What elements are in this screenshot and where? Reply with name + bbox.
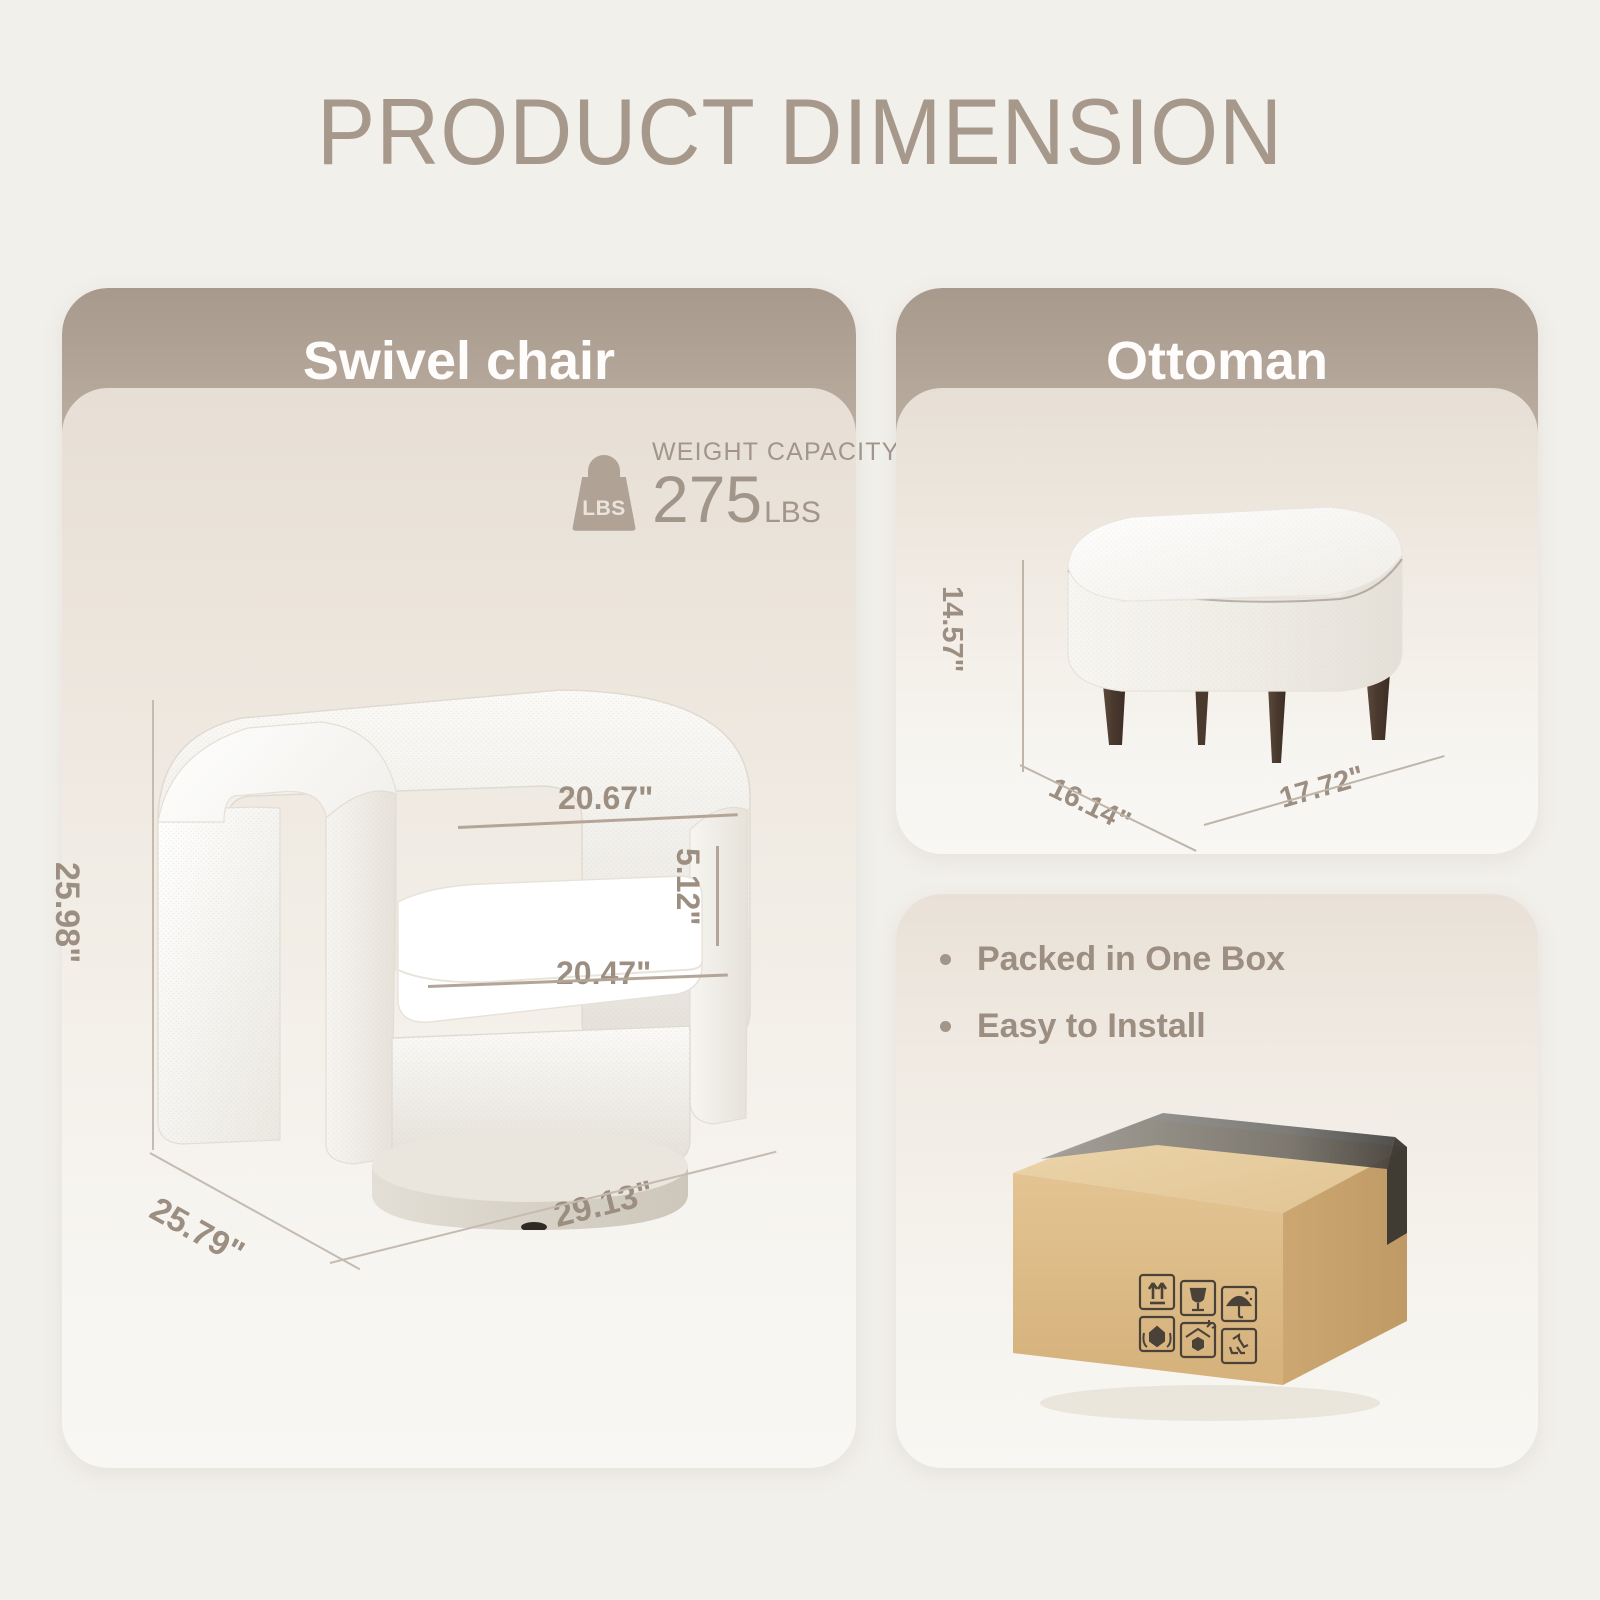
ottoman-title: Ottoman [896, 330, 1538, 392]
packing-bullet-0: Packed in One Box [977, 940, 1285, 979]
chair-dim-seat-height: 5.12" [669, 848, 706, 925]
list-item: Packed in One Box [940, 940, 1285, 979]
bullet-dot-icon [940, 1021, 951, 1032]
list-item: Easy to Install [940, 1007, 1285, 1046]
swivel-chair-illustration [130, 670, 770, 1230]
weight-icon-label: LBS [572, 497, 636, 521]
chair-dim-seat-depth: 20.47" [556, 955, 651, 992]
weight-capacity-unit: LBS [764, 496, 821, 530]
bullet-dot-icon [940, 954, 951, 965]
packing-bullet-1: Easy to Install [977, 1007, 1206, 1046]
weight-icon: LBS [572, 455, 636, 531]
ottoman-illustration [1010, 495, 1430, 795]
packing-bullet-list: Packed in One Box Easy to Install [940, 940, 1285, 1074]
swivel-chair-title: Swivel chair [62, 330, 856, 392]
ottoman-dim-height: 14.57" [935, 586, 968, 672]
weight-capacity-value: 275 [652, 468, 762, 531]
chair-dim-total-height: 25.98" [47, 862, 86, 963]
page-title: PRODUCT DIMENSION [56, 78, 1544, 186]
ottoman-dim-height-line [1022, 560, 1024, 772]
weight-capacity-text: WEIGHT CAPACITY 275 LBS [652, 438, 900, 531]
weight-capacity-value-row: 275 LBS [652, 468, 900, 531]
cardboard-box-illustration [995, 1085, 1425, 1435]
chair-dim-seat-height-line [716, 846, 719, 946]
chair-dim-total-height-line [152, 700, 154, 1150]
weight-capacity-badge: LBS WEIGHT CAPACITY 275 LBS [572, 438, 900, 531]
chair-dim-seat-width: 20.67" [558, 780, 653, 817]
